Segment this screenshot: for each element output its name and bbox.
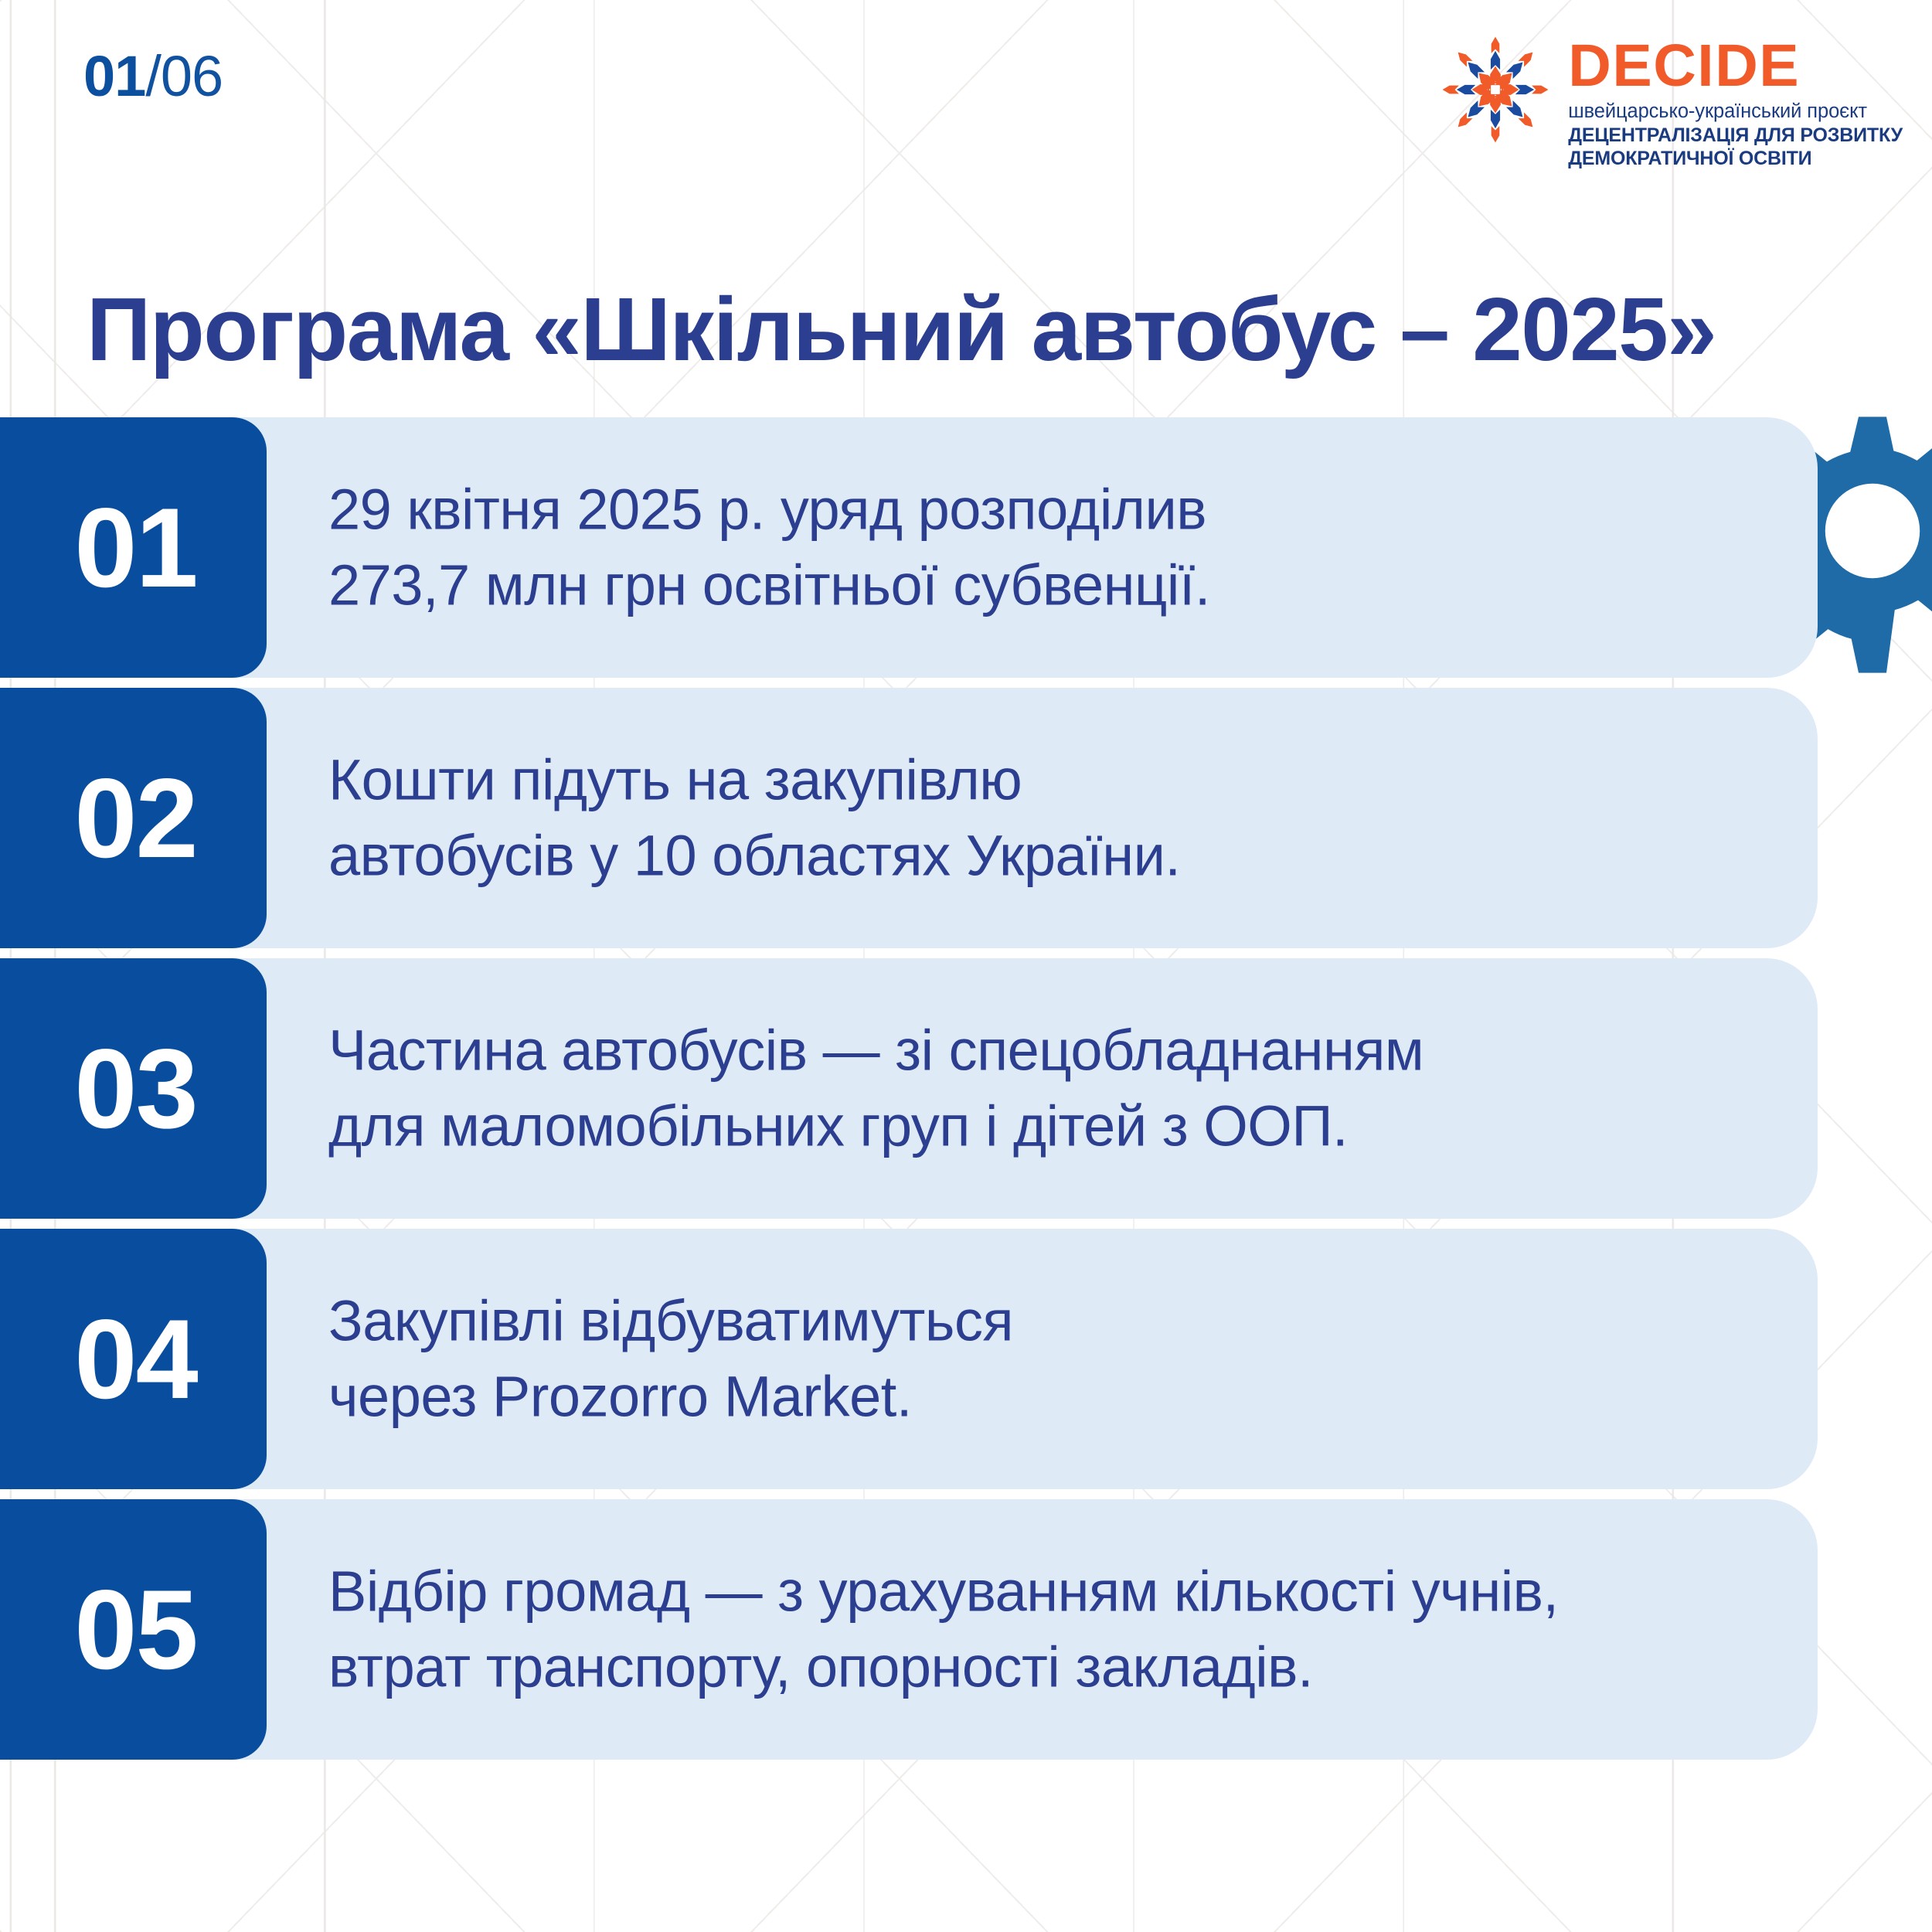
card-number-badge: 03 [0,958,267,1219]
logo-subtitle-tagline-line1: ДЕЦЕНТРАЛІЗАЦІЯ ДЛЯ РОЗВИТКУ [1568,124,1903,147]
logo-wordmark: DECIDE [1568,39,1903,94]
card-number: 01 [70,492,196,604]
card-number-badge: 01 [0,417,267,678]
card-text-line: 29 квітня 2025 р. уряд розподілив [328,471,1210,547]
list-item: 02 Кошти підуть на закупівлю автобусів у… [0,688,1824,948]
card-text: 29 квітня 2025 р. уряд розподілив 273,7 … [328,471,1210,624]
card-text: Закупівлі відбуватимуться через Prozorro… [328,1283,1013,1435]
slide-counter-total: 06 [161,44,223,108]
infographic-slide: 01/06 [0,0,1932,1932]
list-item: 04 Закупівлі відбуватимуться через Prozo… [0,1229,1824,1489]
slide-counter-separator: / [145,44,161,108]
card-text-line: 273,7 млн грн освітньої субвенції. [328,548,1210,624]
logo-subtitle-tagline-line2: ДЕМОКРАТИЧНОЇ ОСВІТИ [1568,147,1903,170]
card-text-line: автобусів у 10 областях України. [328,818,1181,894]
logo-text-block: DECIDE швейцарсько-український проєкт ДЕ… [1568,31,1903,170]
card-number: 04 [70,1303,196,1416]
card-text-line: Відбір громад — з урахуванням кількості … [328,1553,1559,1629]
card-text: Відбір громад — з урахуванням кількості … [328,1553,1559,1706]
card-number-badge: 04 [0,1229,267,1489]
card-text-line: Частина автобусів — зі спецобладнанням [328,1012,1423,1088]
decide-snowflake-mark [1437,31,1554,148]
card-text-line: через Prozorro Market. [328,1359,1013,1435]
page-title: Програма «Шкільний автобус – 2025» [87,283,1716,377]
card-text: Частина автобусів — зі спецобладнанням д… [328,1012,1423,1165]
card-number-badge: 05 [0,1499,267,1760]
card-text-line: втрат транспорту, опорності закладів. [328,1630,1559,1706]
list-item: 05 Відбір громад — з урахуванням кількос… [0,1499,1824,1760]
card-text-line: Закупівлі відбуватимуться [328,1283,1013,1359]
slide-counter: 01/06 [83,48,223,105]
card-text-line: для маломобільних груп і дітей з ООП. [328,1089,1423,1165]
decide-logo: DECIDE швейцарсько-український проєкт ДЕ… [1437,31,1903,170]
slide-counter-current: 01 [83,44,145,108]
logo-subtitle-project: швейцарсько-український проєкт [1568,100,1903,123]
card-number: 02 [70,762,196,875]
card-number: 03 [70,1032,196,1145]
list-item: 03 Частина автобусів — зі спецобладнання… [0,958,1824,1219]
list-item: 01 29 квітня 2025 р. уряд розподілив 273… [0,417,1824,678]
card-text-line: Кошти підуть на закупівлю [328,742,1181,818]
card-text: Кошти підуть на закупівлю автобусів у 10… [328,742,1181,894]
card-number-badge: 02 [0,688,267,948]
numbered-cards-list: 01 29 квітня 2025 р. уряд розподілив 273… [0,417,1824,1770]
logo-subtitle-tagline: ДЕЦЕНТРАЛІЗАЦІЯ ДЛЯ РОЗВИТКУ ДЕМОКРАТИЧН… [1568,124,1903,170]
card-number: 05 [70,1573,196,1686]
